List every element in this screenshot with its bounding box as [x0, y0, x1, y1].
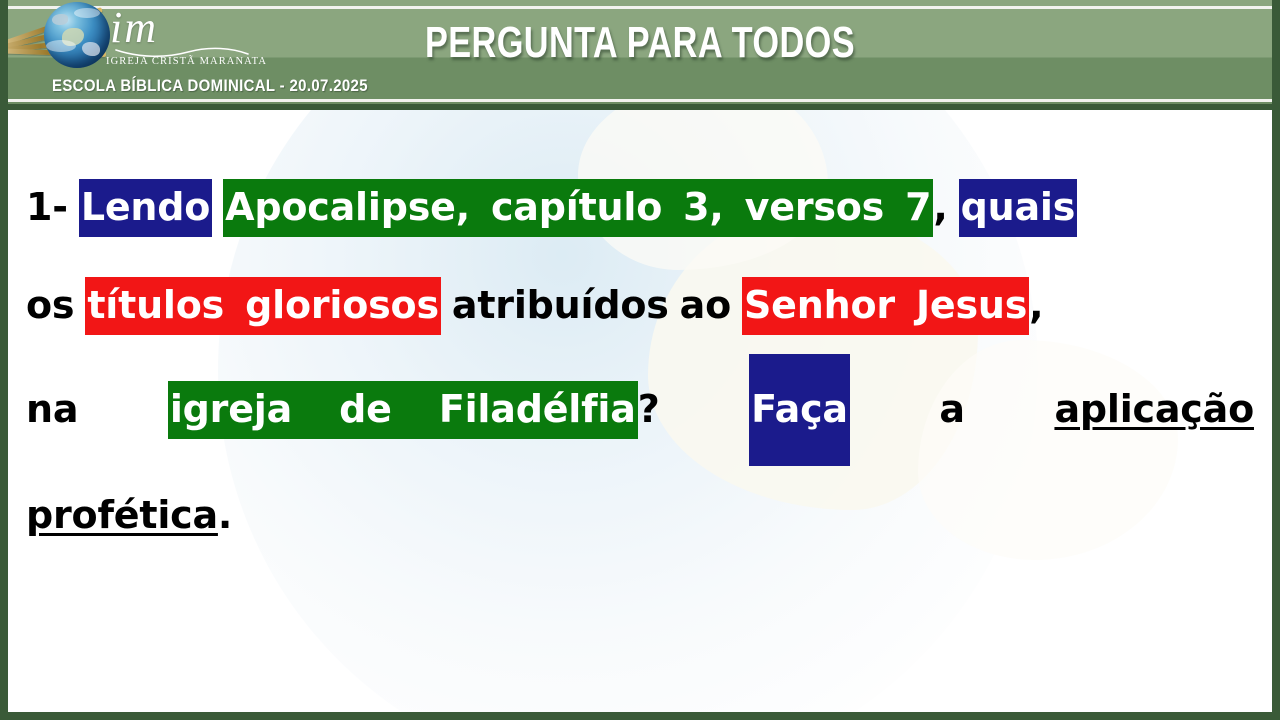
highlight-lendo: Lendo [79, 179, 212, 237]
globe-icon [44, 2, 110, 68]
highlight-versos: versos [743, 179, 886, 237]
slide-header: im IGREJA CRISTÃ MARANATA ESCOLA BÍBLICA… [8, 0, 1272, 104]
highlight-gap [226, 277, 243, 335]
word-os: os [26, 283, 74, 327]
header-bottom-rule [8, 99, 1272, 102]
highlight-capitulo: capítulo [489, 179, 664, 237]
globe-landmass [52, 14, 68, 25]
question-text: 1-LendoApocalipse, capítulo 3, versos 7,… [26, 158, 1254, 564]
slide-body: 1-LendoApocalipse, capítulo 3, versos 7,… [8, 110, 1272, 712]
highlight-gap [664, 179, 681, 237]
word-na: na [26, 360, 78, 458]
question-line-2: ostítulos gloriososatribuídosaoSenhor Je… [26, 256, 1254, 354]
comma-1: , [933, 185, 947, 229]
highlight-jesus: Jesus [914, 277, 1029, 335]
header-subtitle: ESCOLA BÍBLICA DOMINICAL - 20.07.2025 [52, 76, 368, 96]
highlight-senhor: Senhor [742, 277, 897, 335]
highlight-gap [472, 179, 489, 237]
highlight-gap [886, 179, 903, 237]
globe-cloud [46, 40, 76, 52]
highlight-chapter-number: 3, [681, 179, 725, 237]
page-title: PERGUNTA PARA TODOS [147, 19, 1133, 67]
highlight-gap [294, 381, 337, 439]
slide: im IGREJA CRISTÃ MARANATA ESCOLA BÍBLICA… [0, 0, 1280, 720]
underline-aplicacao: aplicação [1054, 360, 1254, 458]
highlight-titulos: títulos [85, 277, 226, 335]
question-mark: ? [638, 387, 660, 431]
highlight-igreja: igreja [168, 381, 294, 439]
highlight-gap [726, 179, 743, 237]
question-line-4: profética. [26, 466, 1254, 564]
word-atribuidos: atribuídos [452, 283, 669, 327]
highlight-gap [897, 277, 914, 335]
globe-landmass [82, 42, 100, 56]
question-line-3: na igreja de Filadélfia? Faça a aplicaçã… [26, 354, 1254, 466]
highlight-de: de [337, 381, 394, 439]
highlight-filadelfia: Filadélfia [437, 381, 638, 439]
highlight-verse-number: 7 [903, 179, 933, 237]
highlight-gap [394, 381, 437, 439]
highlight-quais: quais [959, 179, 1078, 237]
word-a: a [939, 360, 964, 458]
question-line-1: 1-LendoApocalipse, capítulo 3, versos 7,… [26, 158, 1254, 256]
comma-2: , [1029, 283, 1043, 327]
highlight-igreja-de-filadelfia-group: igreja de Filadélfia? [168, 360, 660, 458]
globe-cloud [74, 8, 100, 18]
word-ao: ao [680, 283, 731, 327]
highlight-gloriosos: gloriosos [243, 277, 441, 335]
highlight-apocalipse: Apocalipse, [223, 179, 472, 237]
final-period: . [218, 493, 232, 537]
highlight-faca: Faça [749, 354, 850, 466]
underline-profetica: profética [26, 493, 218, 537]
question-number: 1- [26, 185, 68, 229]
